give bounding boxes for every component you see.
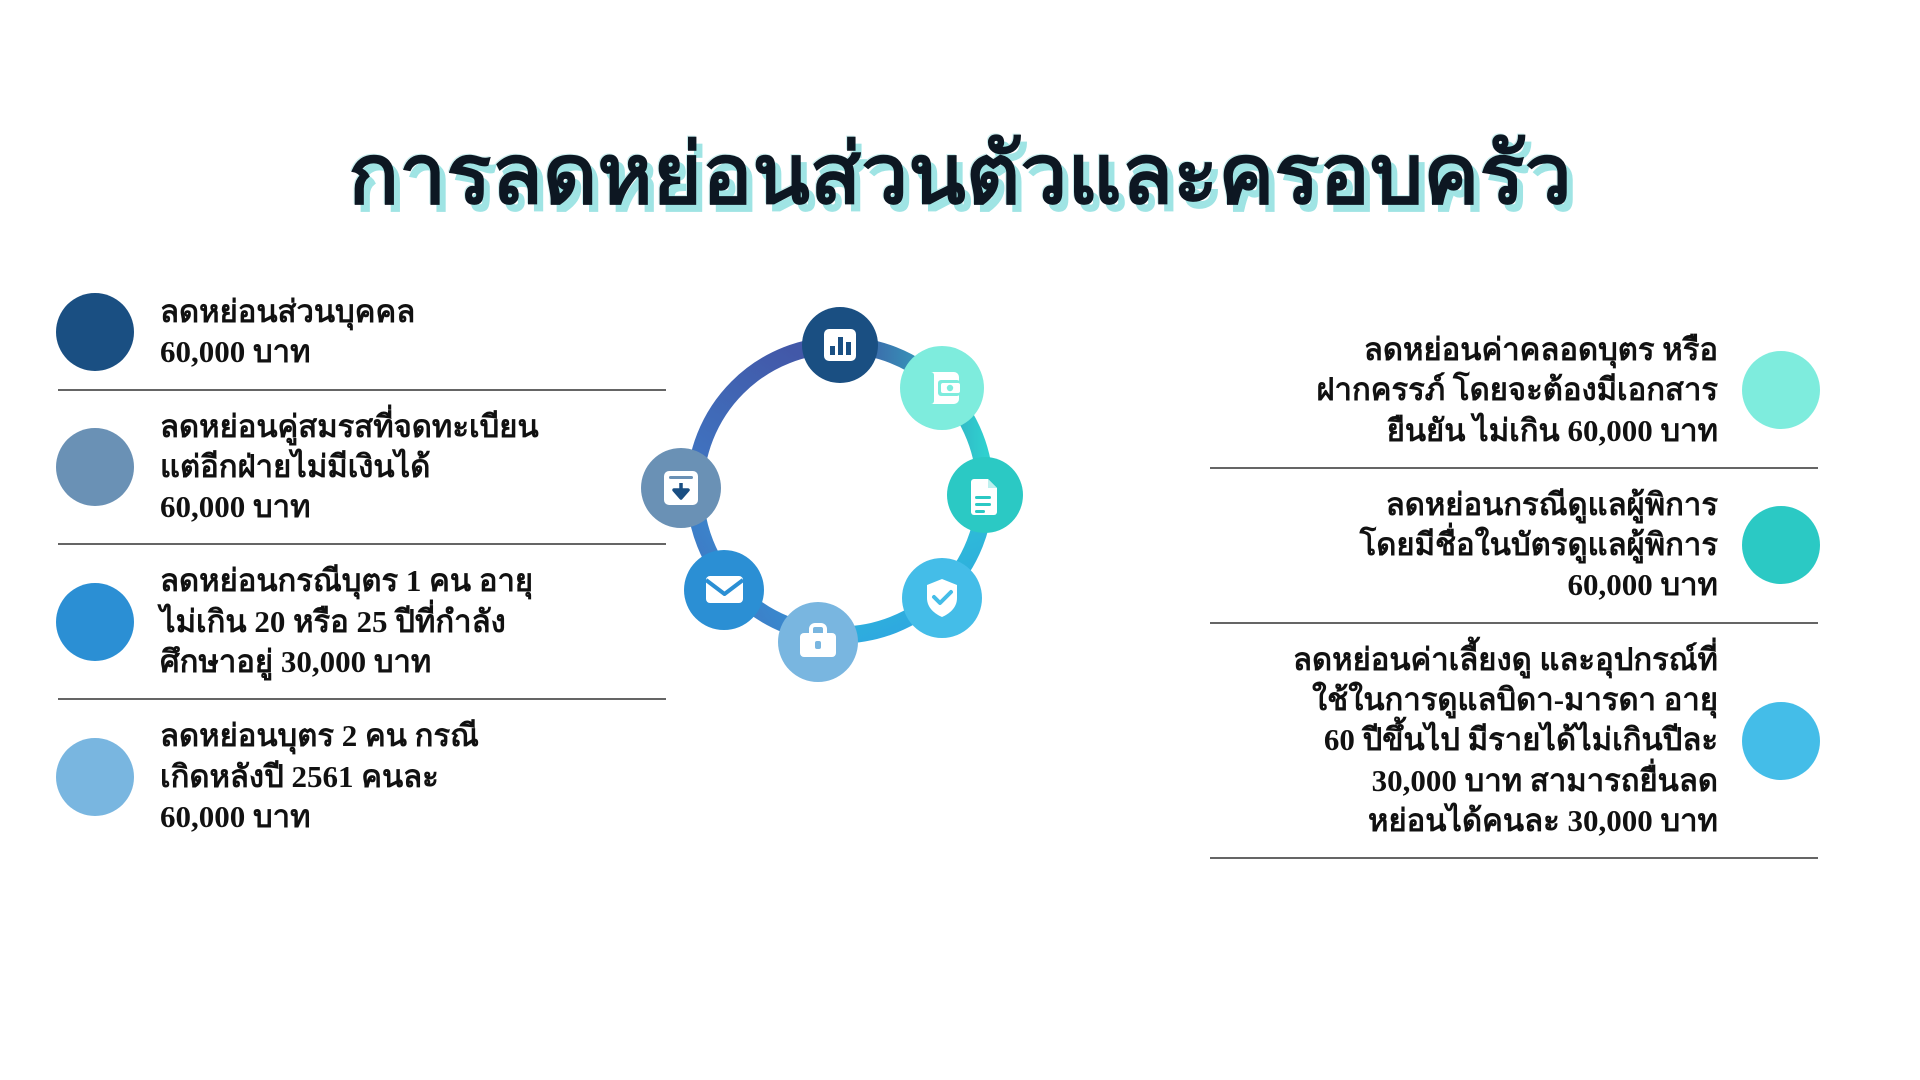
list-item[interactable]: ลดหย่อนค่าคลอดบุตร หรือ ฝากครรภ์ โดยจะต้… xyxy=(1200,330,1820,451)
list-item-line: 60,000 บาท xyxy=(160,332,415,372)
list-item-line: เกิดหลังปี 2561 คนละ xyxy=(160,757,479,797)
right-deduction-list: ลดหย่อนค่าคลอดบุตร หรือ ฝากครรภ์ โดยจะต้… xyxy=(1200,330,1820,875)
list-item-line: ไม่เกิน 20 หรือ 25 ปีที่กำลัง xyxy=(160,602,533,642)
list-item-line: ลดหย่อนค่าคลอดบุตร หรือ xyxy=(1316,330,1718,370)
list-item[interactable]: ลดหย่อนค่าเลี้ยงดู และอุปกรณ์ที่ ใช้ในกา… xyxy=(1200,640,1820,841)
divider xyxy=(58,543,666,545)
list-item-line: ลดหย่อนส่วนบุคคล xyxy=(160,292,415,332)
divider xyxy=(1210,467,1818,469)
title-container: การลดหย่อนส่วนตัวและครอบครัว xyxy=(0,78,1920,275)
divider xyxy=(1210,857,1818,859)
list-item-line: ใช้ในการดูแลบิดา-มารดา อายุ xyxy=(1293,680,1718,720)
list-item-line: 30,000 บาท สามารถยื่นลด xyxy=(1293,761,1718,801)
list-item-line: หย่อนได้คนละ 30,000 บาท xyxy=(1293,801,1718,841)
list-item-line: ฝากครรภ์ โดยจะต้องมีเอกสาร xyxy=(1316,370,1718,410)
bullet-dot xyxy=(56,293,134,371)
list-item-line: 60 ปีขึ้นไป มีรายได้ไม่เกินปีละ xyxy=(1293,720,1718,760)
bullet-dot xyxy=(1742,351,1820,429)
bar-chart-icon xyxy=(824,329,856,361)
list-item[interactable]: ลดหย่อนส่วนบุคคล 60,000 บาท xyxy=(56,292,676,373)
bullet-dot xyxy=(56,428,134,506)
list-item-text: ลดหย่อนส่วนบุคคล 60,000 บาท xyxy=(160,292,415,373)
list-item-line: 60,000 บาท xyxy=(1360,565,1718,605)
list-item-text: ลดหย่อนคู่สมรสที่จดทะเบียน แต่อีกฝ่ายไม่… xyxy=(160,407,539,528)
list-item[interactable]: ลดหย่อนกรณีบุตร 1 คน อายุ ไม่เกิน 20 หรื… xyxy=(56,561,676,682)
inbox-download-icon xyxy=(664,471,698,505)
ring-node-shield-check[interactable] xyxy=(902,558,982,638)
bullet-dot xyxy=(56,583,134,661)
ring-node-inbox-download[interactable] xyxy=(641,448,721,528)
cycle-diagram xyxy=(630,280,1050,700)
list-item[interactable]: ลดหย่อนกรณีดูแลผู้พิการ โดยมีชื่อในบัตรด… xyxy=(1200,485,1820,606)
list-item-line: ลดหย่อนกรณีบุตร 1 คน อายุ xyxy=(160,561,533,601)
ring-node-wallet[interactable] xyxy=(900,346,984,430)
divider xyxy=(58,389,666,391)
left-deduction-list: ลดหย่อนส่วนบุคคล 60,000 บาท ลดหย่อนคู่สม… xyxy=(56,292,676,837)
list-item-line: ลดหย่อนกรณีดูแลผู้พิการ xyxy=(1360,485,1718,525)
bullet-dot xyxy=(56,738,134,816)
list-item-line: ศึกษาอยู่ 30,000 บาท xyxy=(160,642,533,682)
list-item-line: ยืนยัน ไม่เกิน 60,000 บาท xyxy=(1316,411,1718,451)
page-title: การลดหย่อนส่วนตัวและครอบครัว xyxy=(348,134,1572,218)
list-item-text: ลดหย่อนค่าเลี้ยงดู และอุปกรณ์ที่ ใช้ในกา… xyxy=(1293,640,1718,841)
document-icon xyxy=(971,479,997,515)
list-item-text: ลดหย่อนกรณีดูแลผู้พิการ โดยมีชื่อในบัตรด… xyxy=(1360,485,1718,606)
list-item-text: ลดหย่อนบุตร 2 คน กรณี เกิดหลังปี 2561 คน… xyxy=(160,716,479,837)
list-item-text: ลดหย่อนค่าคลอดบุตร หรือ ฝากครรภ์ โดยจะต้… xyxy=(1316,330,1718,451)
list-item-line: 60,000 บาท xyxy=(160,487,539,527)
divider xyxy=(1210,622,1818,624)
bullet-dot xyxy=(1742,702,1820,780)
list-item-text: ลดหย่อนกรณีบุตร 1 คน อายุ ไม่เกิน 20 หรื… xyxy=(160,561,533,682)
ring-node-briefcase[interactable] xyxy=(778,602,858,682)
ring-node-document[interactable] xyxy=(947,457,1023,533)
envelope-icon xyxy=(706,576,743,603)
list-item-line: 60,000 บาท xyxy=(160,797,479,837)
list-item-line: โดยมีชื่อในบัตรดูแลผู้พิการ xyxy=(1360,525,1718,565)
list-item[interactable]: ลดหย่อนบุตร 2 คน กรณี เกิดหลังปี 2561 คน… xyxy=(56,716,676,837)
list-item[interactable]: ลดหย่อนคู่สมรสที่จดทะเบียน แต่อีกฝ่ายไม่… xyxy=(56,407,676,528)
bullet-dot xyxy=(1742,506,1820,584)
divider xyxy=(58,698,666,700)
list-item-line: ลดหย่อนบุตร 2 คน กรณี xyxy=(160,716,479,756)
list-item-line: ลดหย่อนค่าเลี้ยงดู และอุปกรณ์ที่ xyxy=(1293,640,1718,680)
list-item-line: ลดหย่อนคู่สมรสที่จดทะเบียน xyxy=(160,407,539,447)
ring-node-bar-chart[interactable] xyxy=(802,307,878,383)
ring-node-envelope[interactable] xyxy=(684,550,764,630)
wallet-icon xyxy=(925,372,960,404)
list-item-line: แต่อีกฝ่ายไม่มีเงินได้ xyxy=(160,447,539,487)
